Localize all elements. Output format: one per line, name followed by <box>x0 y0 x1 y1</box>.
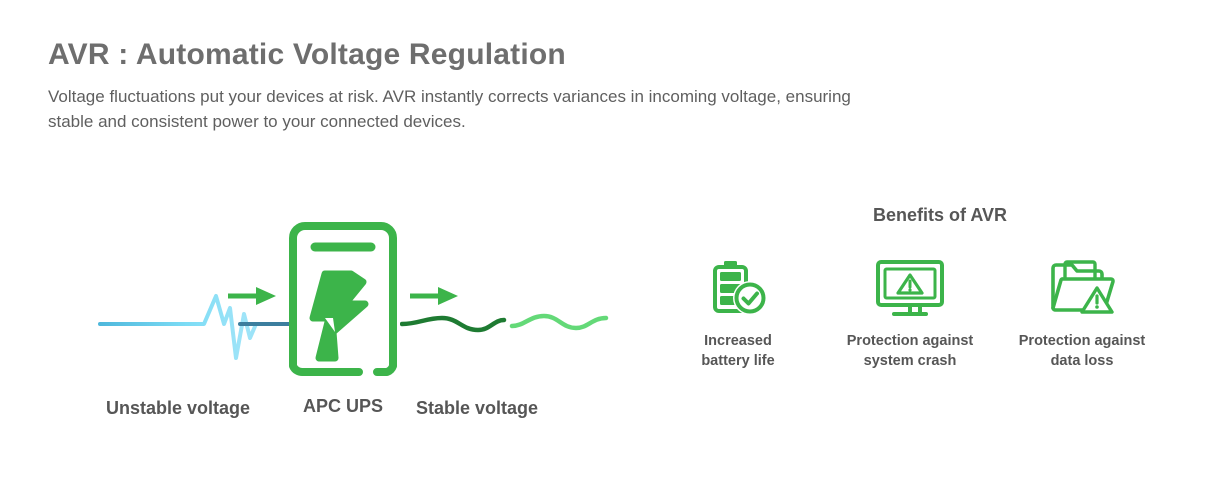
benefit-caption: Protection against system crash <box>832 332 988 371</box>
benefits-list: Increased battery life <box>660 258 1160 371</box>
benefits-section: Benefits of AVR <box>660 205 1160 371</box>
benefit-item: Protection against data loss <box>1004 258 1160 371</box>
stable-voltage-label: Stable voltage <box>416 398 538 419</box>
stable-voltage-group: Stable voltage <box>400 260 620 380</box>
benefit-caption: Increased battery life <box>660 332 816 371</box>
page-subtitle: Voltage fluctuations put your devices at… <box>48 85 868 134</box>
battery-check-icon <box>660 258 816 320</box>
arrow-right-icon <box>408 284 460 308</box>
benefits-title: Benefits of AVR <box>660 205 1160 226</box>
unstable-voltage-label: Unstable voltage <box>106 398 250 419</box>
arrow-right-icon <box>226 284 278 308</box>
benefit-item: Increased battery life <box>660 258 816 371</box>
benefit-caption: Protection against data loss <box>1004 332 1160 371</box>
benefit-item: Protection against system crash <box>832 258 988 371</box>
folder-warning-icon <box>1004 258 1160 320</box>
ups-device-label: APC UPS <box>248 396 438 417</box>
ups-device-icon <box>289 222 397 382</box>
page-title: AVR : Automatic Voltage Regulation <box>48 38 1148 71</box>
header: AVR : Automatic Voltage Regulation Volta… <box>48 38 1148 134</box>
monitor-warning-icon <box>832 258 988 320</box>
unstable-voltage-group: Unstable voltage <box>96 260 296 380</box>
stable-waveform-icon <box>400 260 610 390</box>
